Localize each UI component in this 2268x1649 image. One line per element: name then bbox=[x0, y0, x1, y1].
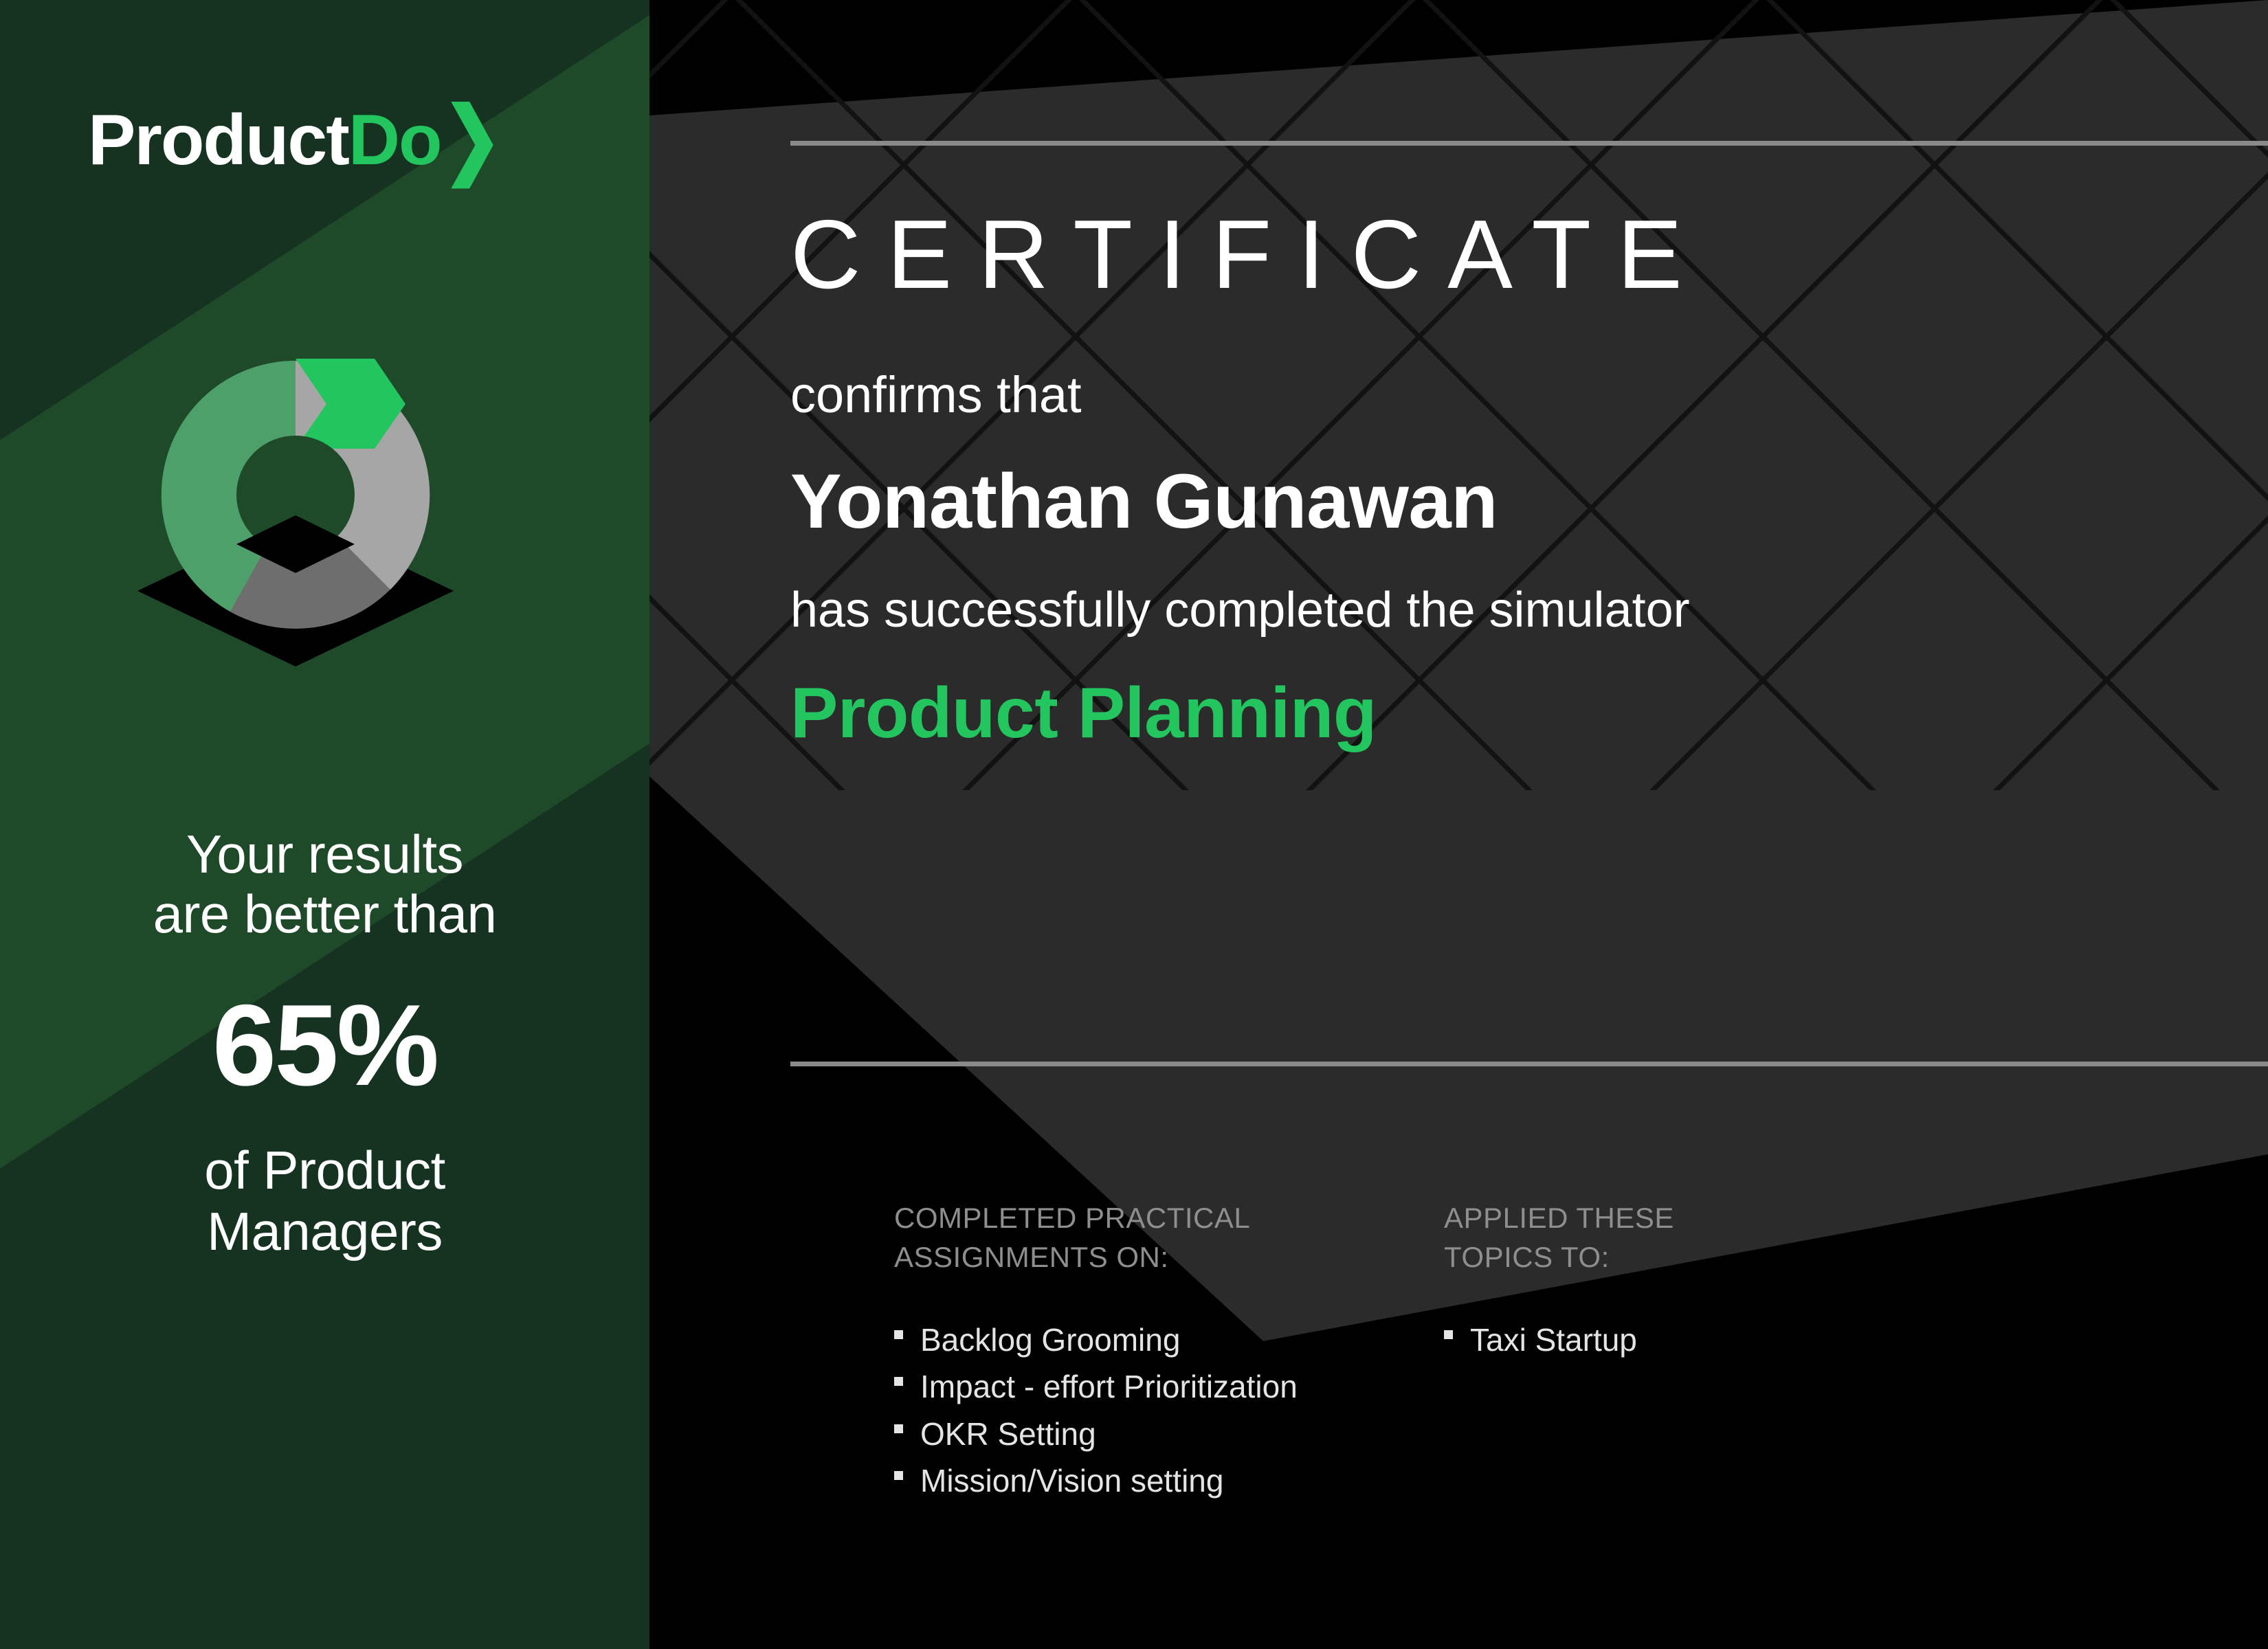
logo-text-do: Do bbox=[348, 100, 441, 180]
topics-list: Taxi Startup bbox=[1444, 1316, 1925, 1363]
list-item-label: Impact - effort Prioritization bbox=[920, 1369, 1298, 1404]
page-title: CERTIFICATE bbox=[790, 206, 2268, 304]
bullet-square-icon bbox=[1444, 1330, 1453, 1339]
results-percent-value: 65% bbox=[0, 987, 649, 1103]
completion-label: has successfully completed the simulator bbox=[790, 585, 2268, 635]
column-assignments: COMPLETED PRACTICAL ASSIGNMENTS ON: Back… bbox=[894, 1199, 1444, 1504]
list-item: Taxi Startup bbox=[1444, 1316, 1925, 1363]
list-item: Impact - effort Prioritization bbox=[894, 1363, 1444, 1410]
assignments-heading: COMPLETED PRACTICAL ASSIGNMENTS ON: bbox=[894, 1199, 1444, 1277]
divider-rule-top bbox=[790, 141, 2268, 146]
assignments-list: Backlog Grooming Impact - effort Priorit… bbox=[894, 1316, 1444, 1503]
list-item-label: Mission/Vision setting bbox=[920, 1463, 1223, 1499]
bullet-square-icon bbox=[894, 1377, 903, 1386]
list-item: OKR Setting bbox=[894, 1411, 1444, 1457]
topics-heading: APPLIED THESE TOPICS TO: bbox=[1444, 1199, 1925, 1277]
list-item: Mission/Vision setting bbox=[894, 1457, 1444, 1504]
divider-rule-bottom bbox=[790, 1062, 2268, 1066]
certificate-text-block: CERTIFICATE confirms that Yonathan Gunaw… bbox=[790, 206, 2268, 749]
list-item-label: Backlog Grooming bbox=[920, 1322, 1180, 1358]
bullet-square-icon bbox=[894, 1424, 903, 1433]
course-name: Product Planning bbox=[790, 677, 2268, 749]
certificate-main-panel: CERTIFICATE confirms that Yonathan Gunaw… bbox=[649, 0, 2268, 1649]
sidebar-panel: ProductDo❯ Your res bbox=[0, 0, 649, 1649]
results-intro-text: Your results are better than bbox=[0, 824, 649, 945]
results-audience-text: of Product Managers bbox=[0, 1140, 649, 1262]
column-topics: APPLIED THESE TOPICS TO: Taxi Startup bbox=[1444, 1199, 1925, 1504]
list-item-label: Taxi Startup bbox=[1470, 1322, 1637, 1358]
brand-logo: ProductDo❯ bbox=[88, 104, 501, 176]
list-item-label: OKR Setting bbox=[920, 1416, 1096, 1452]
details-columns: COMPLETED PRACTICAL ASSIGNMENTS ON: Back… bbox=[894, 1199, 2200, 1504]
recipient-name: Yonathan Gunawan bbox=[790, 463, 2268, 540]
results-summary: Your results are better than 65% of Prod… bbox=[0, 824, 649, 1262]
certificate-card: ProductDo❯ Your res bbox=[0, 0, 2268, 1649]
donut-chart-emblem bbox=[124, 323, 467, 673]
bullet-square-icon bbox=[894, 1330, 903, 1339]
confirms-label: confirms that bbox=[790, 370, 2268, 420]
bullet-square-icon bbox=[894, 1471, 903, 1480]
chevron-right-icon: ❯ bbox=[443, 96, 501, 181]
list-item: Backlog Grooming bbox=[894, 1316, 1444, 1363]
logo-text-product: Product bbox=[88, 100, 348, 180]
